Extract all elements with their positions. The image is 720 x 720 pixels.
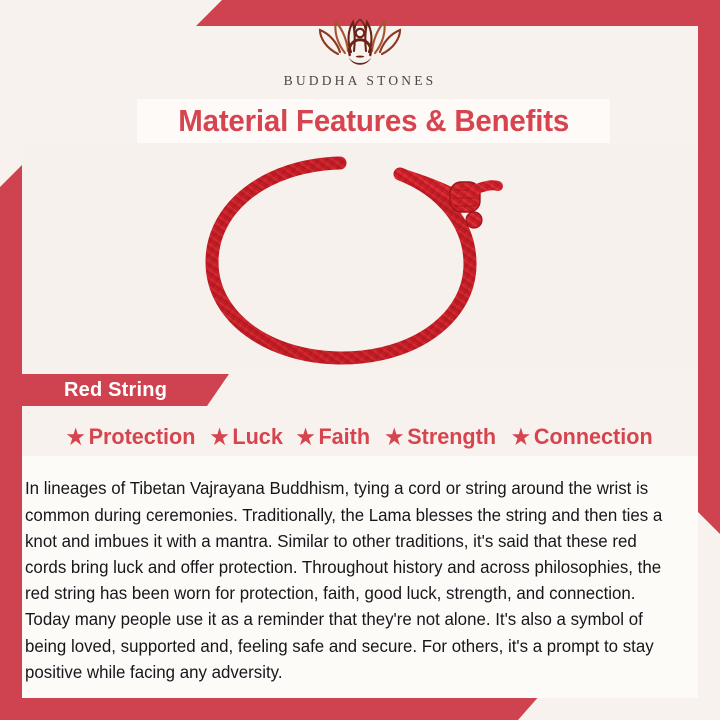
benefit-item-connection: ★ Connection xyxy=(512,424,653,450)
infographic-page: BUDDHA STONES Material Features & Benefi… xyxy=(0,0,720,720)
benefit-item-luck: ★ Luck xyxy=(211,424,283,450)
benefit-label: Strength xyxy=(407,424,496,450)
star-icon: ★ xyxy=(67,427,85,448)
star-icon: ★ xyxy=(211,427,229,448)
red-string-bracelet-illustration xyxy=(22,146,698,370)
brand-logo: BUDDHA STONES xyxy=(0,12,720,89)
lotus-meditation-icon xyxy=(308,12,412,70)
section-tab-label: Red String xyxy=(64,379,167,402)
star-icon: ★ xyxy=(297,427,315,448)
benefit-item-faith: ★ Faith xyxy=(297,424,371,450)
description-text: In lineages of Tibetan Vajrayana Buddhis… xyxy=(25,475,673,685)
product-image xyxy=(22,146,698,370)
star-icon: ★ xyxy=(512,427,530,448)
decor-bar-right xyxy=(698,26,720,534)
benefit-label: Faith xyxy=(319,424,371,450)
benefits-list: ★ Protection ★ Luck ★ Faith ★ Strength ★… xyxy=(24,418,696,456)
description-card: In lineages of Tibetan Vajrayana Buddhis… xyxy=(22,456,698,698)
benefit-item-protection: ★ Protection xyxy=(67,424,196,450)
title-banner: Material Features & Benefits xyxy=(137,99,610,143)
benefit-item-strength: ★ Strength xyxy=(385,424,496,450)
benefit-label: Protection xyxy=(89,424,196,450)
benefit-label: Connection xyxy=(534,424,653,450)
section-tab-red-string: Red String xyxy=(22,374,229,406)
decor-bar-left xyxy=(0,165,22,686)
page-title: Material Features & Benefits xyxy=(178,103,569,139)
star-icon: ★ xyxy=(385,427,403,448)
benefit-label: Luck xyxy=(233,424,283,450)
brand-wordmark: BUDDHA STONES xyxy=(0,73,720,89)
